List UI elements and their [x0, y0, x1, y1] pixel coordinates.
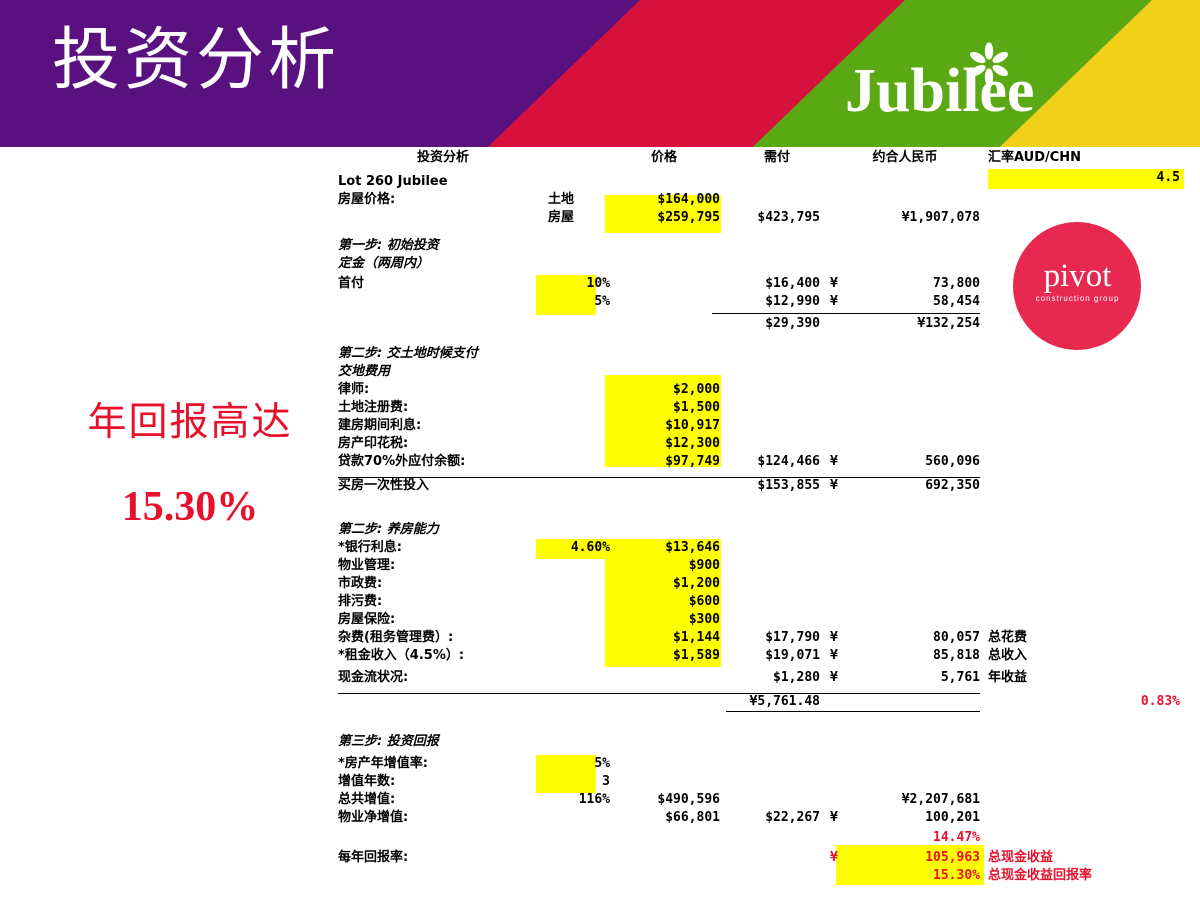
sheet-row: Lot 260 Jubilee	[0, 173, 1200, 191]
row-percent: 4.60%	[540, 539, 610, 557]
row-price: $12,300	[608, 435, 720, 453]
investment-analysis-sheet: 投资分析 价格 需付 约合人民币 汇率AUD/CHN 4.5 Lot 260 J…	[0, 147, 1200, 900]
page-title: 投资分析	[52, 24, 340, 99]
row-price: $1,200	[608, 575, 720, 593]
row-label: 律师:	[338, 381, 548, 399]
row-rmb: 14.47%	[856, 829, 980, 847]
sheet-row: 14.47%	[0, 829, 1200, 847]
row-note: 年收益	[988, 669, 1188, 687]
sheet-row: 买房一次性投入$153,855¥692,350	[0, 477, 1200, 495]
row-due: $124,466	[734, 453, 820, 471]
sheet-row: *租金收入（4.5%）:$1,589$19,071¥85,818总收入	[0, 647, 1200, 665]
row-price: $1,144	[608, 629, 720, 647]
row-rmb: ¥2,207,681	[856, 791, 980, 809]
sheet-row: 律师:$2,000	[0, 381, 1200, 399]
sheet-row: 交地费用	[0, 363, 1200, 381]
sheet-row: 第二步: 养房能力	[0, 521, 1200, 539]
row-note: 总收入	[988, 647, 1188, 665]
sheet-row: 每年回报率:¥105,963总现金收益	[0, 849, 1200, 867]
header-rate-label: 汇率AUD/CHN	[988, 149, 1188, 167]
row-percent: 5%	[540, 293, 610, 311]
row-rmb: 5,761	[856, 669, 980, 687]
row-rmb: 15.30%	[856, 867, 980, 885]
row-due: $17,790	[734, 629, 820, 647]
sheet-row: 定金（两周内）	[0, 255, 1200, 273]
row-label: 杂费(租务管理费）:	[338, 629, 548, 647]
row-label: 土地注册费:	[338, 399, 548, 417]
row-rmb: 692,350	[856, 477, 980, 495]
row-due: $16,400	[734, 275, 820, 293]
row-due: $1,280	[734, 669, 820, 687]
row-currency-symbol: ¥	[830, 453, 846, 471]
row-label: *房产年增值率:	[338, 755, 548, 773]
row-price: $490,596	[608, 791, 720, 809]
row-label: 第二步: 交土地时候支付	[338, 345, 548, 363]
row-note: 总花费	[988, 629, 1188, 647]
rule-deposit-total	[712, 313, 980, 314]
row-rmb: 58,454	[856, 293, 980, 311]
row-label: 首付	[338, 275, 548, 293]
header-price: 价格	[608, 149, 720, 167]
row-label: *租金收入（4.5%）:	[338, 647, 548, 665]
header-due: 需付	[734, 149, 820, 167]
row-label: Lot 260 Jubilee	[338, 173, 548, 191]
sheet-row: 土地注册费:$1,500	[0, 399, 1200, 417]
row-label: 贷款70%外应付余额:	[338, 453, 548, 471]
row-due: $423,795	[734, 209, 820, 227]
row-price: $600	[608, 593, 720, 611]
rule-oneoff	[338, 477, 980, 478]
row-label: 第一步: 初始投资	[338, 237, 548, 255]
sheet-row: ¥5,761.480.83%	[0, 693, 1200, 711]
sheet-row: 第一步: 初始投资	[0, 237, 1200, 255]
row-rmb: 80,057	[856, 629, 980, 647]
row-label: 物业管理:	[338, 557, 548, 575]
row-currency-symbol: ¥	[830, 293, 846, 311]
row-note: 总现金收益	[988, 849, 1188, 867]
sheet-row: 首付10%$16,400¥73,800	[0, 275, 1200, 293]
row-currency-symbol: ¥	[830, 809, 846, 827]
row-due: ¥5,761.48	[734, 693, 820, 711]
sheet-row: 房屋$259,795$423,795¥1,907,078	[0, 209, 1200, 227]
row-currency-symbol: ¥	[830, 849, 846, 867]
row-label: 房屋价格:	[338, 191, 548, 209]
row-rmb: 560,096	[856, 453, 980, 471]
sheet-row: 物业管理:$900	[0, 557, 1200, 575]
header-title: 投资分析	[338, 149, 548, 167]
row-label: 物业净增值:	[338, 809, 548, 827]
row-percent: 3	[540, 773, 610, 791]
sheet-row: *银行利息:4.60%$13,646	[0, 539, 1200, 557]
header-rmb: 约合人民币	[830, 149, 980, 167]
row-price: $97,749	[608, 453, 720, 471]
sheet-row: 房屋保险:$300	[0, 611, 1200, 629]
sheet-row: $29,390¥132,254	[0, 315, 1200, 333]
jubilee-logo: Jubilee	[845, 52, 1115, 132]
row-due: $19,071	[734, 647, 820, 665]
row-rmb: 73,800	[856, 275, 980, 293]
rule-cashflow	[338, 693, 980, 694]
sheet-row: *房产年增值率:5%	[0, 755, 1200, 773]
row-label: 现金流状况:	[338, 669, 548, 687]
row-label: 房屋保险:	[338, 611, 548, 629]
row-currency-symbol: ¥	[830, 669, 846, 687]
row-note: 总现金收益回报率	[988, 867, 1188, 885]
sheet-row: 第二步: 交土地时候支付	[0, 345, 1200, 363]
sheet-row: 建房期间利息:$10,917	[0, 417, 1200, 435]
sheet-row: 增值年数:3	[0, 773, 1200, 791]
row-label: 每年回报率:	[338, 849, 548, 867]
header-banner: 投资分析 Jubilee	[0, 0, 1200, 147]
row-label: *银行利息:	[338, 539, 548, 557]
sheet-header-row: 投资分析 价格 需付 约合人民币 汇率AUD/CHN	[0, 149, 1200, 167]
row-label: 第三步: 投资回报	[338, 733, 548, 751]
row-label: 总共增值:	[338, 791, 548, 809]
row-label: 买房一次性投入	[338, 477, 548, 495]
sheet-row: 房屋价格:土地$164,000	[0, 191, 1200, 209]
row-due: $12,990	[734, 293, 820, 311]
sheet-row: 现金流状况:$1,280¥5,761年收益	[0, 669, 1200, 687]
row-price: $1,589	[608, 647, 720, 665]
row-rmb: 105,963	[856, 849, 980, 867]
row-price: $300	[608, 611, 720, 629]
sheet-row: 第三步: 投资回报	[0, 733, 1200, 751]
row-sublabel: 房屋	[548, 209, 608, 227]
jubilee-wordmark: Jubilee	[845, 60, 1034, 122]
row-label: 第二步: 养房能力	[338, 521, 548, 539]
row-price: $900	[608, 557, 720, 575]
row-label: 房产印花税:	[338, 435, 548, 453]
row-label: 排污费:	[338, 593, 548, 611]
row-label: 增值年数:	[338, 773, 548, 791]
row-label: 市政费:	[338, 575, 548, 593]
row-price: $13,646	[608, 539, 720, 557]
row-due: $29,390	[734, 315, 820, 333]
row-percent: 5%	[540, 755, 610, 773]
row-currency-symbol: ¥	[830, 629, 846, 647]
rule-net-cashflow	[726, 711, 980, 712]
sheet-row: 总共增值:116%$490,596¥2,207,681	[0, 791, 1200, 809]
row-currency-symbol: ¥	[830, 275, 846, 293]
row-due: $153,855	[734, 477, 820, 495]
row-rmb: ¥132,254	[856, 315, 980, 333]
row-sublabel: 土地	[548, 191, 608, 209]
row-label: 定金（两周内）	[338, 255, 548, 273]
row-price: $10,917	[608, 417, 720, 435]
sheet-row: 杂费(租务管理费）:$1,144$17,790¥80,057总花费	[0, 629, 1200, 647]
sheet-row: 市政费:$1,200	[0, 575, 1200, 593]
row-label: 交地费用	[338, 363, 548, 381]
sheet-row: 15.30%总现金收益回报率	[0, 867, 1200, 885]
sheet-row: 排污费:$600	[0, 593, 1200, 611]
row-price: $66,801	[608, 809, 720, 827]
row-price: $1,500	[608, 399, 720, 417]
row-rmb: 85,818	[856, 647, 980, 665]
row-label: 建房期间利息:	[338, 417, 548, 435]
sheet-row: 5%$12,990¥58,454	[0, 293, 1200, 311]
row-note: 0.83%	[1050, 693, 1180, 711]
row-percent: 10%	[540, 275, 610, 293]
row-due: $22,267	[734, 809, 820, 827]
row-price: $2,000	[608, 381, 720, 399]
row-price: $259,795	[608, 209, 720, 227]
row-currency-symbol: ¥	[830, 477, 846, 495]
sheet-row: 贷款70%外应付余额:$97,749$124,466¥560,096	[0, 453, 1200, 471]
row-percent: 116%	[540, 791, 610, 809]
row-currency-symbol: ¥	[830, 647, 846, 665]
row-price: $164,000	[608, 191, 720, 209]
sheet-row: 物业净增值:$66,801$22,267¥100,201	[0, 809, 1200, 827]
row-rmb: ¥1,907,078	[856, 209, 980, 227]
sheet-row: 房产印花税:$12,300	[0, 435, 1200, 453]
row-rmb: 100,201	[856, 809, 980, 827]
